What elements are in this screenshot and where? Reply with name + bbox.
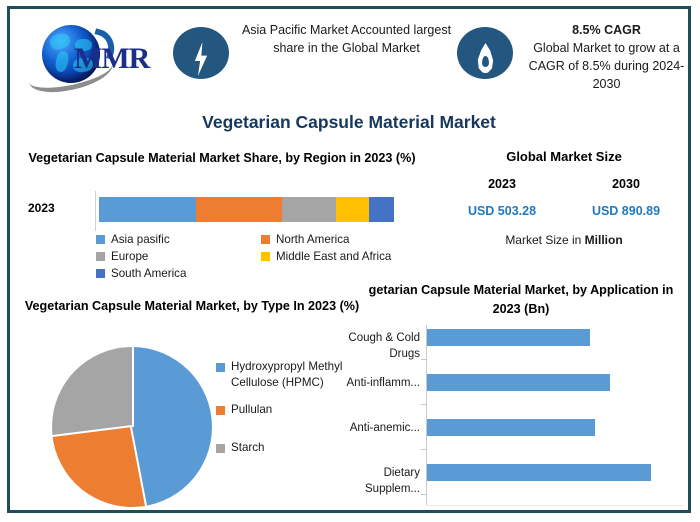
axis-tick — [421, 494, 426, 495]
bar-row: Dietary Supplem... — [342, 464, 688, 509]
bar-row: Anti-inflamm... — [342, 374, 688, 419]
brand-logo: MMR — [20, 15, 160, 87]
legend-swatch — [216, 444, 225, 453]
stack-segment — [99, 197, 196, 222]
axis-line — [95, 191, 96, 231]
infographic-frame: MMR Asia Pacific Market Accounted larges… — [7, 6, 691, 513]
category-label: Anti-inflamm... — [342, 376, 420, 392]
plot-area: Cough & Cold DrugsAnti-inflamm...Anti-an… — [342, 325, 688, 511]
panel-title: Global Market Size — [440, 149, 688, 164]
badge-text: Asia Pacific Market Accounted largest sh… — [239, 21, 454, 57]
bar-row: Anti-anemic... — [342, 419, 688, 464]
legend-label: Pullulan — [231, 402, 272, 418]
legend-item[interactable]: North America — [261, 233, 426, 246]
year-2030-label: 2030 — [564, 177, 688, 191]
header: MMR Asia Pacific Market Accounted larges… — [10, 9, 688, 101]
legend-swatch — [96, 269, 105, 278]
legend-label: Asia pasific — [111, 233, 170, 246]
category-label: Dietary Supplem... — [342, 466, 420, 497]
legend-item[interactable]: South America — [96, 267, 261, 280]
category-label: 2023 — [28, 201, 55, 215]
global-market-size-panel: Global Market Size 2023 2030 USD 503.28 … — [440, 149, 688, 247]
legend-label: Europe — [111, 250, 148, 263]
category-label: Anti-anemic... — [342, 421, 420, 437]
application-chart: getarian Capsule Material Market, by App… — [342, 281, 688, 519]
market-size-2023-value: USD 503.28 — [440, 204, 564, 218]
legend-label: Starch — [231, 440, 265, 456]
stacked-bar — [99, 197, 394, 222]
stack-segment — [336, 197, 368, 222]
stack-segment — [369, 197, 394, 222]
chart-title: Vegetarian Capsule Material Market, by T… — [16, 297, 368, 316]
legend-swatch — [96, 252, 105, 261]
legend-label: South America — [111, 267, 186, 280]
legend-item[interactable]: Middle East and Africa — [261, 250, 426, 263]
value-row: USD 503.28 USD 890.89 — [440, 204, 688, 218]
legend-item[interactable]: Asia pasific — [96, 233, 261, 246]
legend-label: North America — [276, 233, 349, 246]
lightning-bolt-icon — [192, 42, 210, 76]
page-title: Vegetarian Capsule Material Market — [10, 112, 688, 133]
legend-item[interactable]: Europe — [96, 250, 261, 263]
pie-separator — [132, 347, 134, 427]
bar — [427, 419, 595, 436]
axis-tick — [421, 359, 426, 360]
category-label: Cough & Cold Drugs — [342, 331, 420, 362]
bar — [427, 464, 651, 481]
bar — [427, 374, 610, 391]
flame-icon — [477, 43, 494, 73]
legend-swatch — [216, 406, 225, 415]
legend-swatch — [261, 235, 270, 244]
type-share-chart: Vegetarian Capsule Material Market, by T… — [16, 297, 368, 519]
bar — [427, 329, 590, 346]
pie-graphic — [52, 347, 212, 507]
region-share-chart: Vegetarian Capsule Material Market Share… — [16, 149, 428, 294]
year-row: 2023 2030 — [440, 177, 688, 191]
badge-circle — [173, 27, 229, 79]
badge-circle — [457, 27, 513, 79]
chart-title: Vegetarian Capsule Material Market Share… — [16, 149, 428, 167]
brand-name: MMR — [74, 42, 149, 76]
pie-separator — [52, 425, 132, 437]
chart-title: getarian Capsule Material Market, by App… — [342, 281, 688, 319]
region-bar-row: 2023 — [16, 195, 428, 225]
market-size-unit-note: Market Size in Million — [440, 233, 688, 247]
pie-separator — [130, 427, 147, 506]
bar-row: Cough & Cold Drugs — [342, 329, 688, 374]
badge-text-group: 8.5% CAGR Global Market to grow at a CAG… — [519, 21, 694, 94]
legend-swatch — [261, 252, 270, 261]
unit-note-unit: Million — [585, 233, 623, 247]
badge-headline: 8.5% CAGR — [519, 21, 694, 39]
legend-swatch — [96, 235, 105, 244]
stack-segment — [282, 197, 337, 222]
legend-swatch — [216, 363, 225, 372]
axis-tick — [421, 449, 426, 450]
legend-label: Middle East and Africa — [276, 250, 391, 263]
market-size-2030-value: USD 890.89 — [564, 204, 688, 218]
axis-tick — [421, 404, 426, 405]
year-2023-label: 2023 — [440, 177, 564, 191]
unit-note-prefix: Market Size in — [505, 233, 584, 247]
chart-legend: Asia pasificNorth AmericaEuropeMiddle Ea… — [96, 233, 426, 284]
stack-segment — [196, 197, 282, 222]
badge-text: Global Market to grow at a CAGR of 8.5% … — [529, 41, 685, 91]
